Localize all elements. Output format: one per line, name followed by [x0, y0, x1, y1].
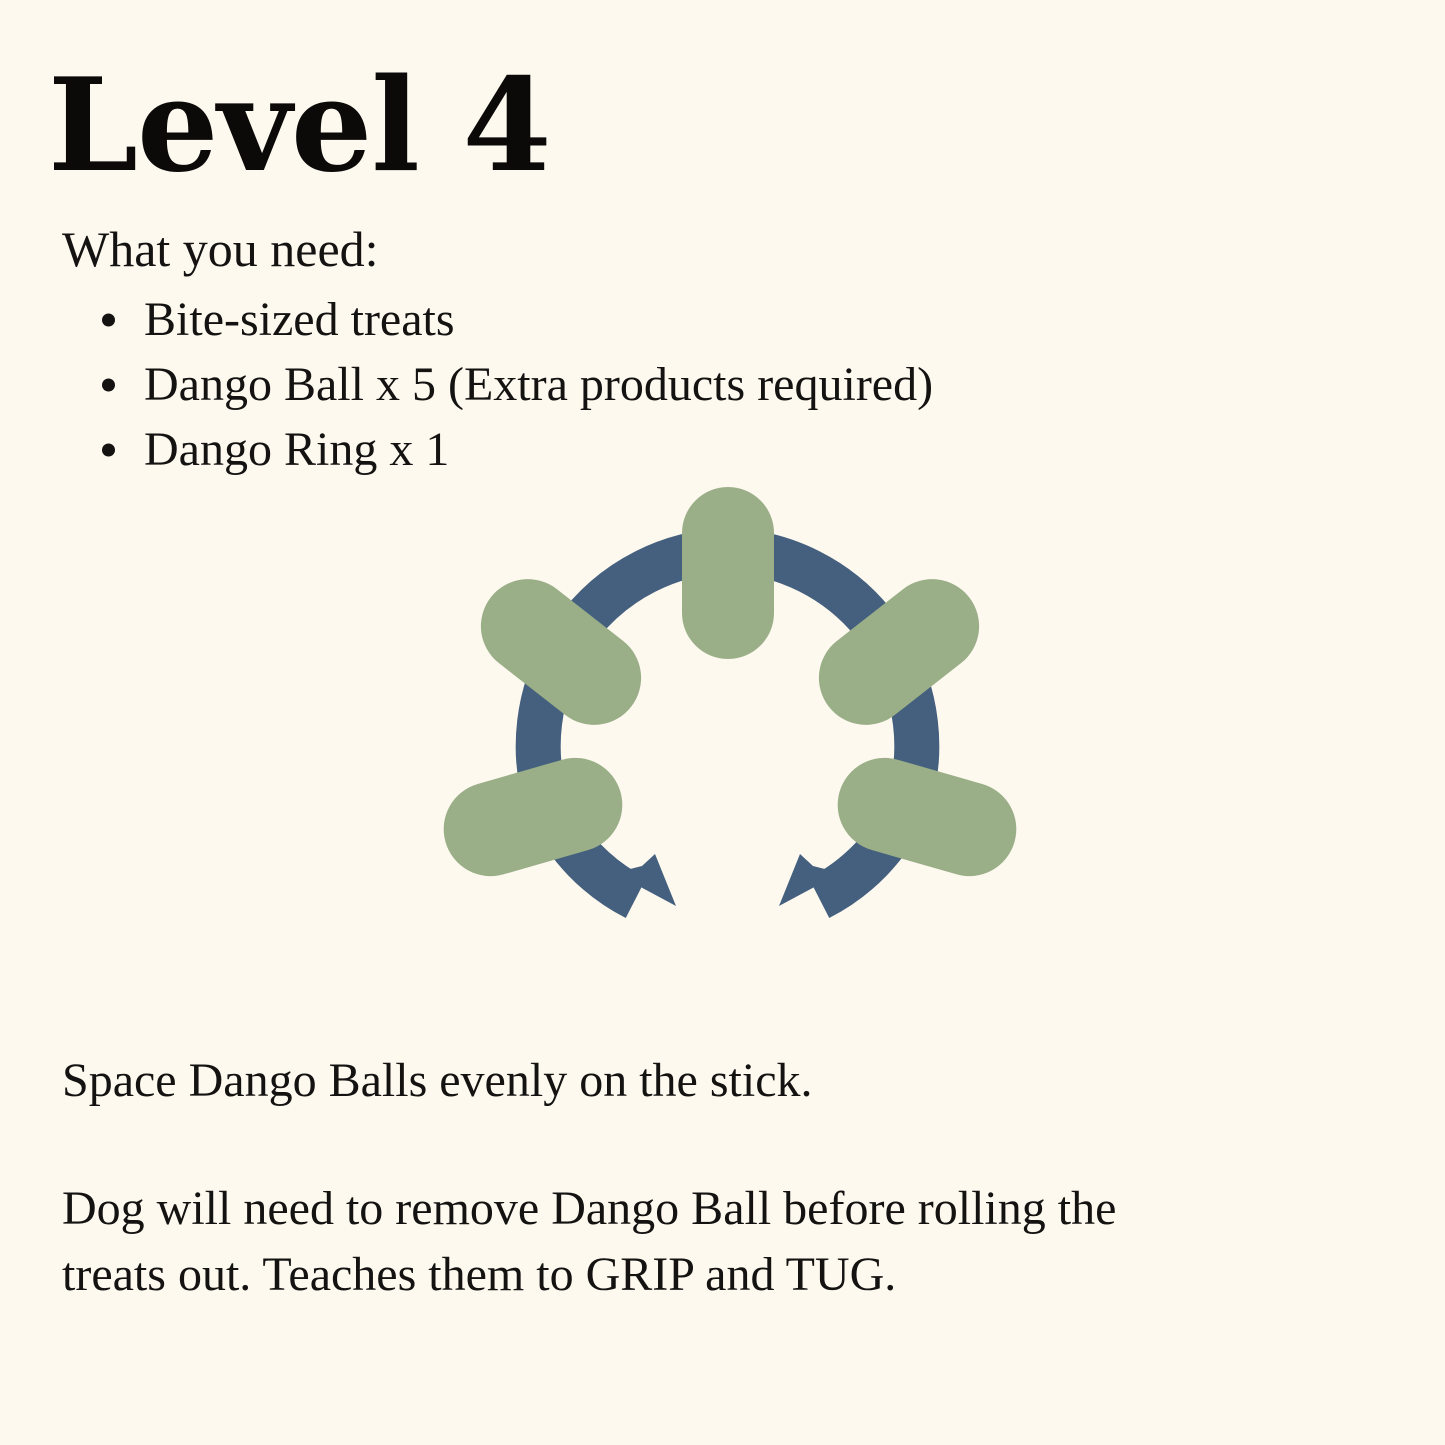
what-you-need-label: What you need:	[62, 222, 379, 277]
dango-ball-group	[433, 487, 1028, 887]
bullet-dot-icon	[102, 379, 115, 392]
list-item: Dango Ball x 5 (Extra products required)	[92, 353, 933, 418]
page-title: Level 4	[48, 62, 551, 190]
dango-ring-with-five-balls-diagram	[430, 455, 1030, 1015]
list-item-label: Dango Ring x 1	[144, 423, 449, 476]
list-item-label: Bite-sized treats	[144, 293, 455, 346]
training-card: Level 4 What you need: Bite-sized treats…	[0, 0, 1445, 1445]
bullet-dot-icon	[102, 443, 115, 456]
instruction-paragraph-2: Dog will need to remove Dango Ball befor…	[62, 1176, 1262, 1308]
dango-diagram-svg	[430, 455, 1030, 1015]
dango-ball-capsule-top	[682, 487, 774, 659]
body-copy: Space Dango Balls evenly on the stick. D…	[62, 1048, 1262, 1309]
needs-list: Bite-sized treats Dango Ball x 5 (Extra …	[92, 288, 933, 482]
list-item-label: Dango Ball x 5 (Extra products required)	[144, 358, 933, 411]
instruction-paragraph-2-line-2: treats out. Teaches them to GRIP and TUG…	[62, 1242, 1262, 1308]
instruction-paragraph-1: Space Dango Balls evenly on the stick.	[62, 1048, 1262, 1114]
instruction-paragraph-2-line-1: Dog will need to remove Dango Ball befor…	[62, 1176, 1262, 1242]
bullet-dot-icon	[102, 314, 115, 327]
list-item: Bite-sized treats	[92, 288, 933, 353]
